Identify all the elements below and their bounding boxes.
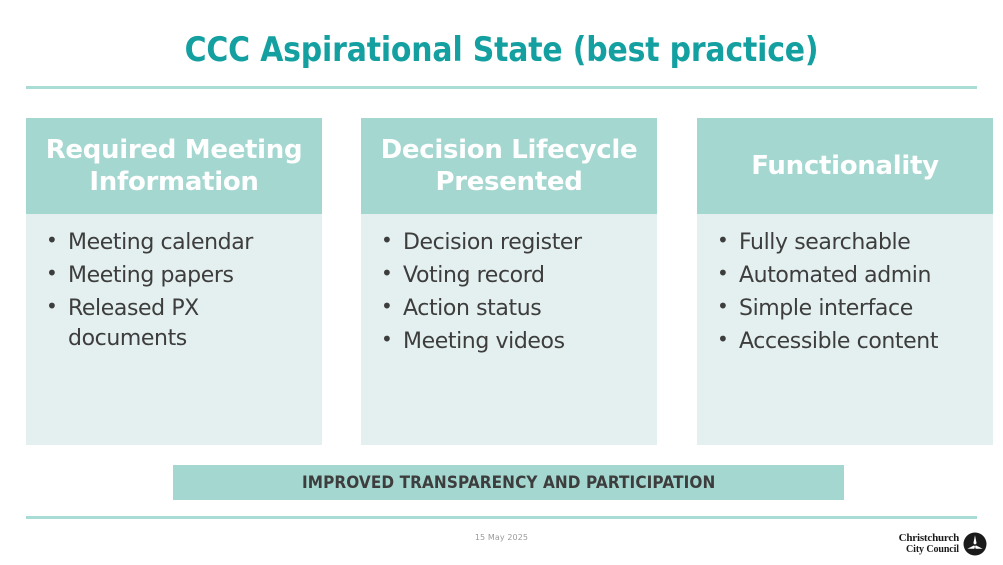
column-body: Fully searchable Automated admin Simple …: [697, 214, 993, 445]
logo-line-2: City Council: [899, 545, 959, 556]
page-title: CCC Aspirational State (best practice): [83, 30, 920, 70]
slide-canvas: CCC Aspirational State (best practice) R…: [0, 0, 1003, 565]
list-item: Released PX documents: [44, 294, 308, 354]
list-item: Simple interface: [715, 294, 979, 324]
column-heading: Required Meeting Information: [26, 118, 322, 214]
list-item: Action status: [379, 294, 643, 324]
bullet-list: Meeting calendar Meeting papers Released…: [44, 228, 308, 355]
bullet-list: Decision register Voting record Action s…: [379, 228, 643, 358]
column-body: Meeting calendar Meeting papers Released…: [26, 214, 322, 445]
list-item: Meeting videos: [379, 327, 643, 357]
outcome-banner: IMPROVED TRANSPARENCY AND PARTICIPATION: [173, 465, 844, 500]
bullet-list: Fully searchable Automated admin Simple …: [715, 228, 979, 358]
christchurch-city-council-logo: Christchurch City Council: [899, 532, 987, 556]
column-decision-lifecycle-presented: Decision Lifecycle Presented Decision re…: [361, 118, 657, 445]
columns-container: Required Meeting Information Meeting cal…: [26, 118, 992, 445]
column-heading: Decision Lifecycle Presented: [361, 118, 657, 214]
outcome-banner-text: IMPROVED TRANSPARENCY AND PARTICIPATION: [302, 473, 715, 493]
logo-wordmark: Christchurch City Council: [899, 533, 959, 555]
list-item: Accessible content: [715, 327, 979, 357]
footer-date: 15 May 2025: [0, 533, 1003, 542]
list-item: Automated admin: [715, 261, 979, 291]
list-item: Fully searchable: [715, 228, 979, 258]
ccc-emblem-icon: [963, 532, 987, 556]
list-item: Decision register: [379, 228, 643, 258]
column-required-meeting-information: Required Meeting Information Meeting cal…: [26, 118, 322, 445]
divider-top: [26, 86, 977, 89]
list-item: Meeting calendar: [44, 228, 308, 258]
logo-line-1: Christchurch: [899, 533, 959, 545]
column-body: Decision register Voting record Action s…: [361, 214, 657, 445]
list-item: Voting record: [379, 261, 643, 291]
ccc-emblem-svg: [963, 532, 987, 556]
column-heading: Functionality: [697, 118, 993, 214]
divider-bottom: [26, 516, 977, 519]
list-item: Meeting papers: [44, 261, 308, 291]
column-functionality: Functionality Fully searchable Automated…: [697, 118, 993, 445]
